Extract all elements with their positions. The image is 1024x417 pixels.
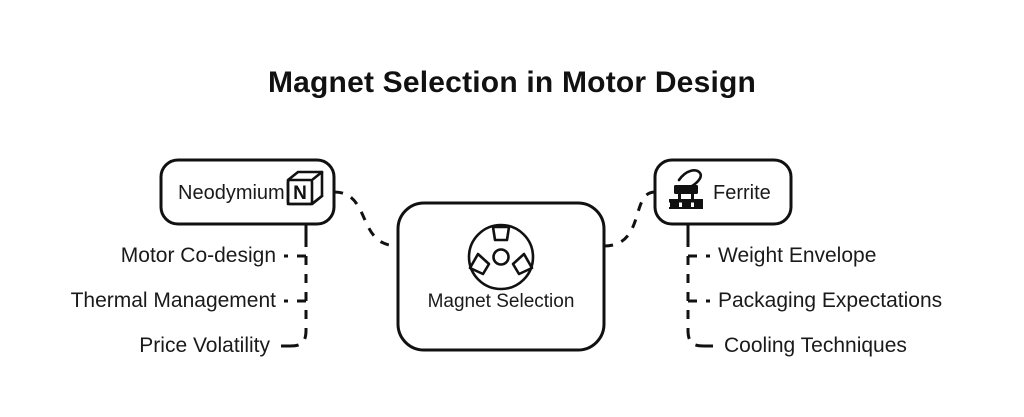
node-label-ferrite: Ferrite <box>713 182 771 205</box>
node-label-center: Magnet Selection <box>398 291 604 313</box>
node-label-neodymium: Neodymium <box>178 182 285 205</box>
leaf-label-thermal-management: Thermal Management <box>26 289 276 313</box>
leaf-label-cooling-techniques: Cooling Techniques <box>724 334 907 358</box>
spine-left-tail <box>290 330 306 346</box>
diagram-canvas: Magnet Selection in Motor Design <box>0 0 1024 417</box>
leaf-label-motor-co-design: Motor Co-design <box>26 244 276 268</box>
spine-right-tail <box>688 330 704 346</box>
leaf-label-packaging-expectations: Packaging Expectations <box>718 289 942 313</box>
connector-neodymium-center <box>334 192 398 246</box>
leaf-label-weight-envelope: Weight Envelope <box>718 244 876 268</box>
svg-text:N: N <box>293 183 307 204</box>
leaf-label-price-volatility: Price Volatility <box>20 334 270 358</box>
connector-center-ferrite <box>604 192 655 246</box>
